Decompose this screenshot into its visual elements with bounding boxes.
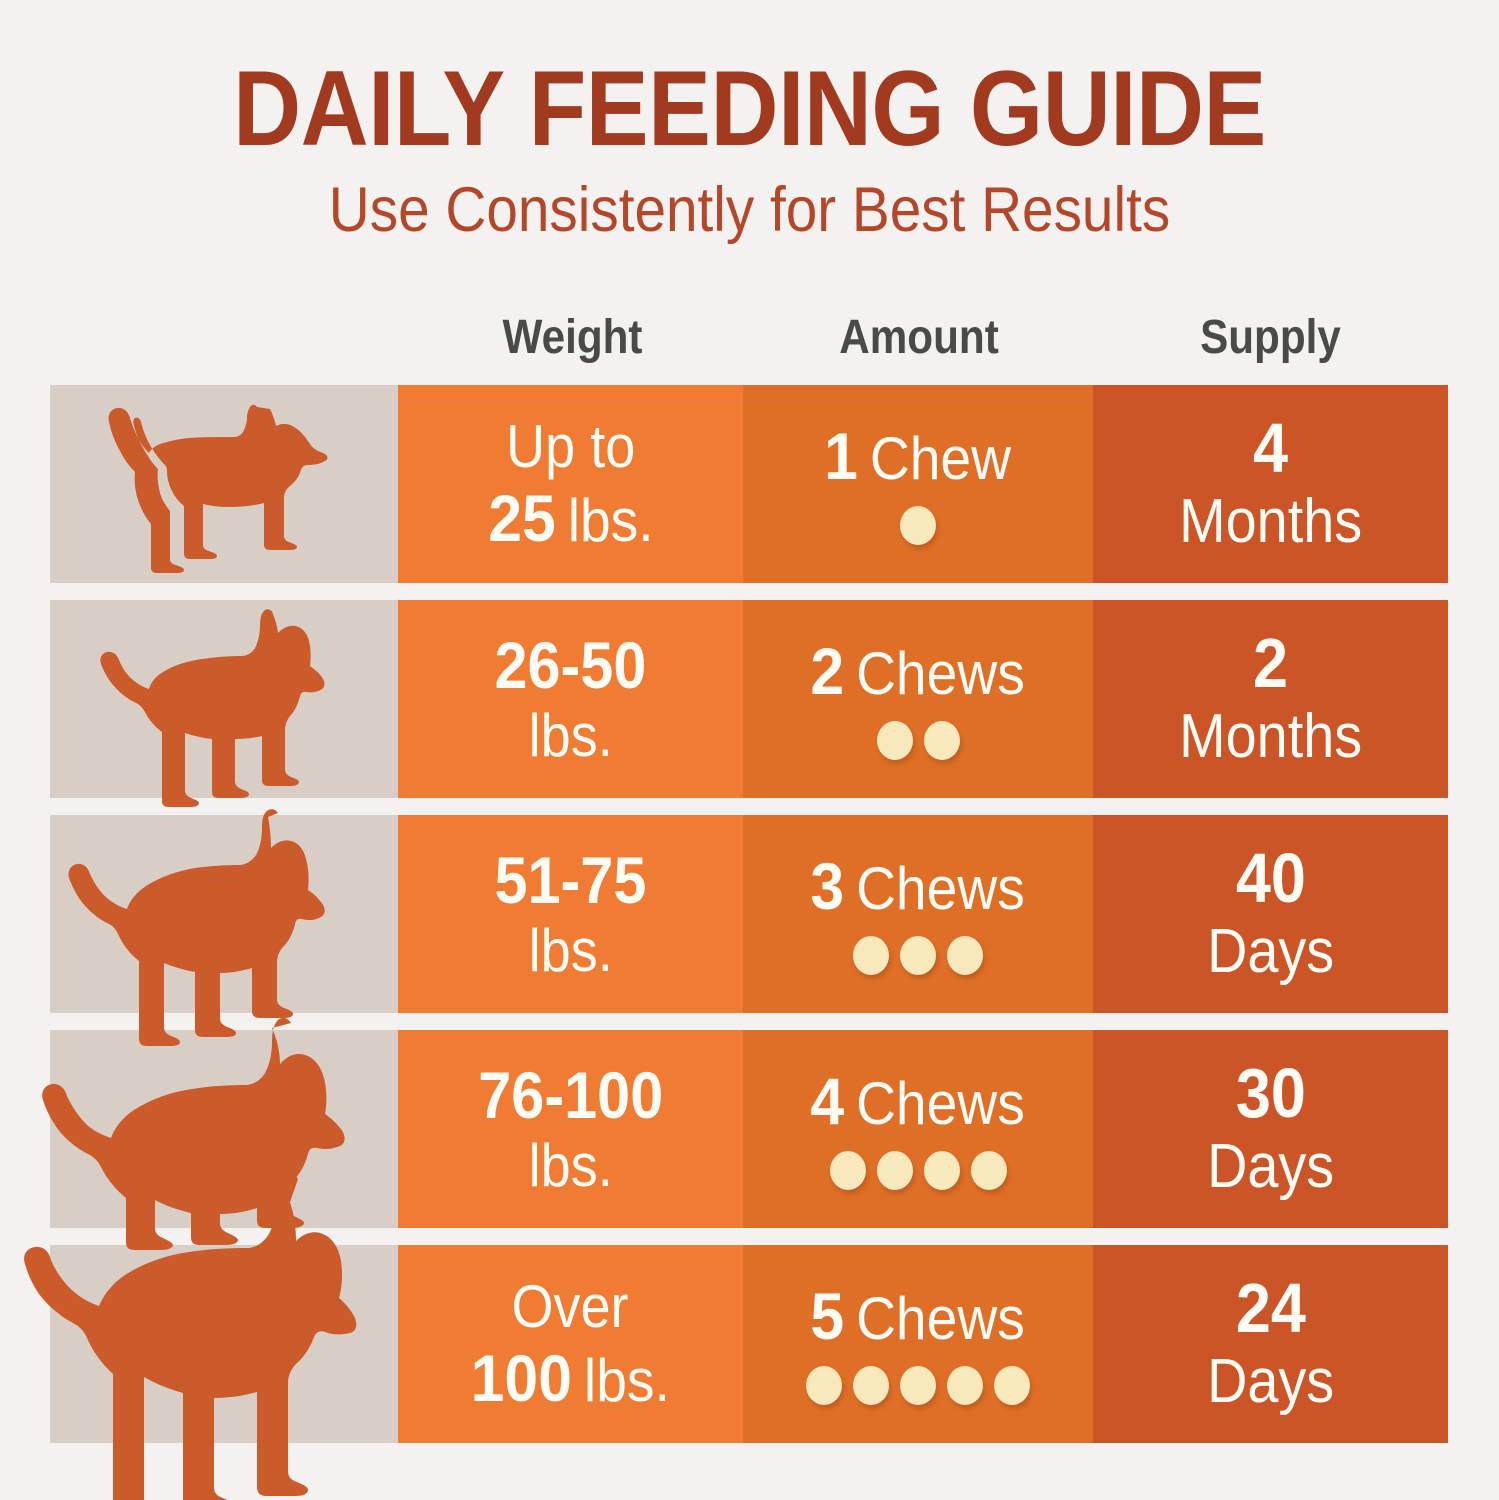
chew-dot (924, 1151, 960, 1190)
amount-count: 1 (825, 423, 859, 489)
amount-unit: Chews (857, 859, 1026, 919)
amount-cell: 2 Chews (743, 600, 1093, 798)
amount-unit: Chews (857, 1074, 1026, 1134)
amount-text: 5 Chews (811, 1283, 1025, 1349)
chew-dot (947, 936, 983, 975)
weight-unit: lbs. (584, 1351, 670, 1411)
table-column-headers: Weight Amount Supply (50, 306, 1448, 370)
supply-unit: Days (1207, 1349, 1334, 1414)
chew-dot (900, 1366, 936, 1405)
supply-value: 40 (1235, 843, 1305, 913)
chew-dot (830, 1151, 866, 1190)
dog-size-cell (50, 385, 398, 583)
chew-dot (877, 721, 913, 760)
weight-unit: lbs. (528, 921, 612, 981)
chew-dot (994, 1366, 1030, 1405)
weight-value: 100 (471, 1345, 572, 1411)
amount-count: 2 (811, 638, 845, 704)
supply-unit: Days (1207, 919, 1334, 984)
supply-unit: Months (1179, 704, 1362, 769)
table-row: Over 100 lbs. 5 Chews 24 Days (50, 1245, 1448, 1443)
supply-unit: Months (1179, 489, 1362, 554)
dog-size-cell (50, 1245, 398, 1443)
dog-size-cell (50, 815, 398, 1013)
chew-dot (900, 936, 936, 975)
dog-size-cell (50, 600, 398, 798)
amount-count: 4 (811, 1068, 845, 1134)
weight-line-1: 51-75 (495, 847, 647, 913)
weight-line-1: Up to (506, 417, 635, 477)
amount-cell: 5 Chews (743, 1245, 1093, 1443)
supply-cell: 30 Days (1093, 1030, 1448, 1228)
chew-dot (924, 721, 960, 760)
supply-cell: 24 Days (1093, 1245, 1448, 1443)
amount-unit: Chews (857, 1289, 1026, 1349)
chew-dot (853, 1366, 889, 1405)
chew-dot (947, 1366, 983, 1405)
chew-dot (806, 1366, 842, 1405)
supply-cell: 2 Months (1093, 600, 1448, 798)
amount-cell: 1 Chew (743, 385, 1093, 583)
chew-dot (853, 936, 889, 975)
column-header-amount: Amount (766, 306, 1072, 370)
supply-cell: 4 Months (1093, 385, 1448, 583)
amount-count: 3 (811, 853, 845, 919)
weight-unit: lbs. (528, 1136, 612, 1196)
chew-dots (877, 721, 960, 760)
weight-line-2: 100 lbs. (471, 1345, 670, 1411)
weight-cell: 51-75 lbs. (398, 815, 743, 1013)
weight-cell: 26-50 lbs. (398, 600, 743, 798)
amount-text: 3 Chews (811, 853, 1025, 919)
chew-dots (806, 1366, 1030, 1405)
table-row: 76-100 lbs. 4 Chews 30 Days (50, 1030, 1448, 1228)
weight-cell: 76-100 lbs. (398, 1030, 743, 1228)
amount-cell: 4 Chews (743, 1030, 1093, 1228)
amount-text: 2 Chews (811, 638, 1025, 704)
chew-dots (900, 506, 936, 545)
supply-unit: Days (1207, 1134, 1334, 1199)
chew-dot (900, 506, 936, 545)
supply-cell: 40 Days (1093, 815, 1448, 1013)
page-subtitle: Use Consistently for Best Results (75, 163, 1424, 243)
weight-cell: Up to 25 lbs. (398, 385, 743, 583)
chew-dots (853, 936, 983, 975)
dog-size-cell (50, 1030, 398, 1228)
weight-line-1: 26-50 (495, 632, 647, 698)
weight-line-1: 76-100 (478, 1062, 663, 1128)
column-header-weight: Weight (421, 306, 725, 370)
amount-count: 5 (811, 1283, 845, 1349)
supply-value: 2 (1253, 628, 1288, 698)
weight-line-1: Over (512, 1277, 629, 1337)
weight-line-2: 25 lbs. (488, 485, 653, 551)
header: DAILY FEEDING GUIDE Use Consistently for… (0, 0, 1499, 243)
weight-unit: lbs. (528, 706, 612, 766)
amount-unit: Chew (870, 429, 1011, 489)
amount-unit: Chews (857, 644, 1026, 704)
weight-unit: lbs. (567, 491, 653, 551)
table-row: Up to 25 lbs. 1 Chew 4 Months (50, 385, 1448, 583)
supply-value: 24 (1235, 1273, 1305, 1343)
chew-dot (971, 1151, 1007, 1190)
amount-cell: 3 Chews (743, 815, 1093, 1013)
amount-text: 1 Chew (825, 423, 1012, 489)
supply-value: 30 (1235, 1058, 1305, 1128)
table-row: 51-75 lbs. 3 Chews 40 Days (50, 815, 1448, 1013)
column-header-spacer (50, 306, 400, 370)
chew-dot (877, 1151, 913, 1190)
weight-value: 25 (488, 485, 556, 551)
amount-text: 4 Chews (811, 1068, 1025, 1134)
chew-dots (830, 1151, 1007, 1190)
supply-value: 4 (1253, 413, 1288, 483)
feeding-guide-table: Up to 25 lbs. 1 Chew 4 Months (50, 385, 1448, 1443)
table-row: 26-50 lbs. 2 Chews 2 Months (50, 600, 1448, 798)
column-header-supply: Supply (1114, 306, 1426, 370)
weight-cell: Over 100 lbs. (398, 1245, 743, 1443)
page-title: DAILY FEEDING GUIDE (90, 0, 1409, 163)
